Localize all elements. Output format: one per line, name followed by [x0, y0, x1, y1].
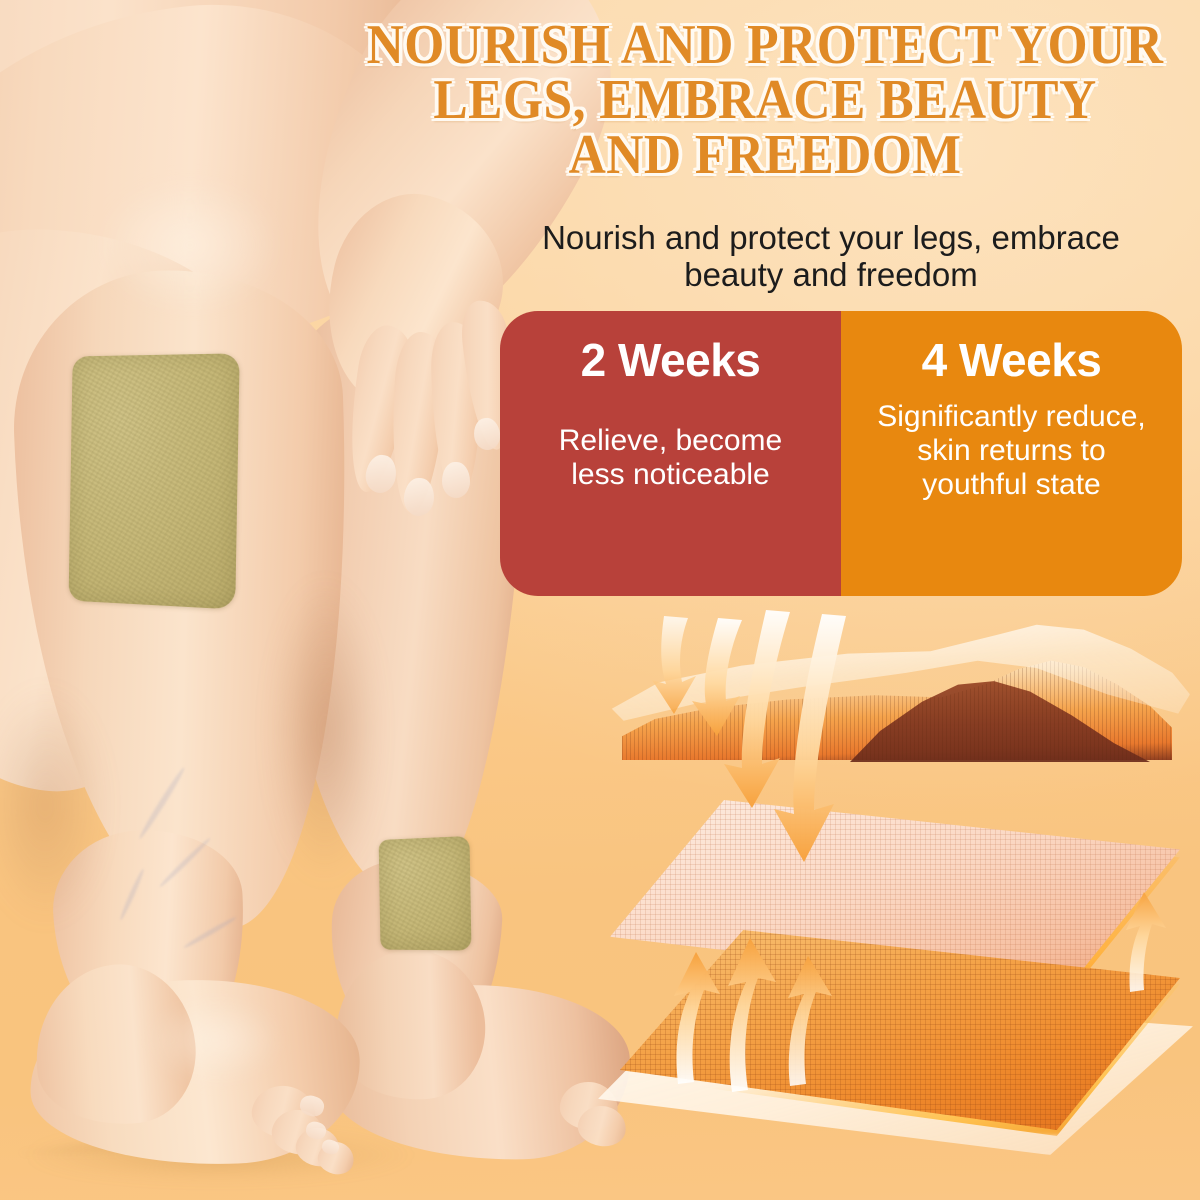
patch-layer-diagram — [590, 600, 1200, 1140]
panel-body-four-weeks: Significantly reduce, skin returns to yo… — [857, 400, 1166, 503]
panel-title-four-weeks: 4 Weeks — [857, 337, 1166, 384]
applied-patch-knee — [69, 353, 240, 609]
comparison-card: 2 Weeks Relieve, become less noticeable … — [500, 311, 1182, 596]
panel-title-two-weeks: 2 Weeks — [516, 337, 825, 384]
fingernail — [442, 462, 471, 498]
arrow-up-3 — [788, 956, 832, 1086]
absorption-arrows-up — [590, 600, 1200, 1140]
arrow-up-1 — [674, 952, 720, 1084]
comparison-panel-two-weeks: 2 Weeks Relieve, become less noticeable — [500, 311, 841, 596]
page-title: NOURISH AND PROTECT YOUR LEGS, EMBRACE B… — [365, 18, 1165, 183]
arrow-up-4 — [1126, 892, 1166, 992]
applied-patch-ankle — [379, 836, 472, 951]
advertisement-canvas: NOURISH AND PROTECT YOUR LEGS, EMBRACE B… — [0, 0, 1200, 1200]
panel-body-two-weeks: Relieve, become less noticeable — [516, 424, 825, 492]
arrow-up-2 — [728, 938, 776, 1092]
comparison-panel-four-weeks: 4 Weeks Significantly reduce, skin retur… — [841, 311, 1182, 596]
subtitle: Nourish and protect your legs, embrace b… — [466, 219, 1196, 294]
